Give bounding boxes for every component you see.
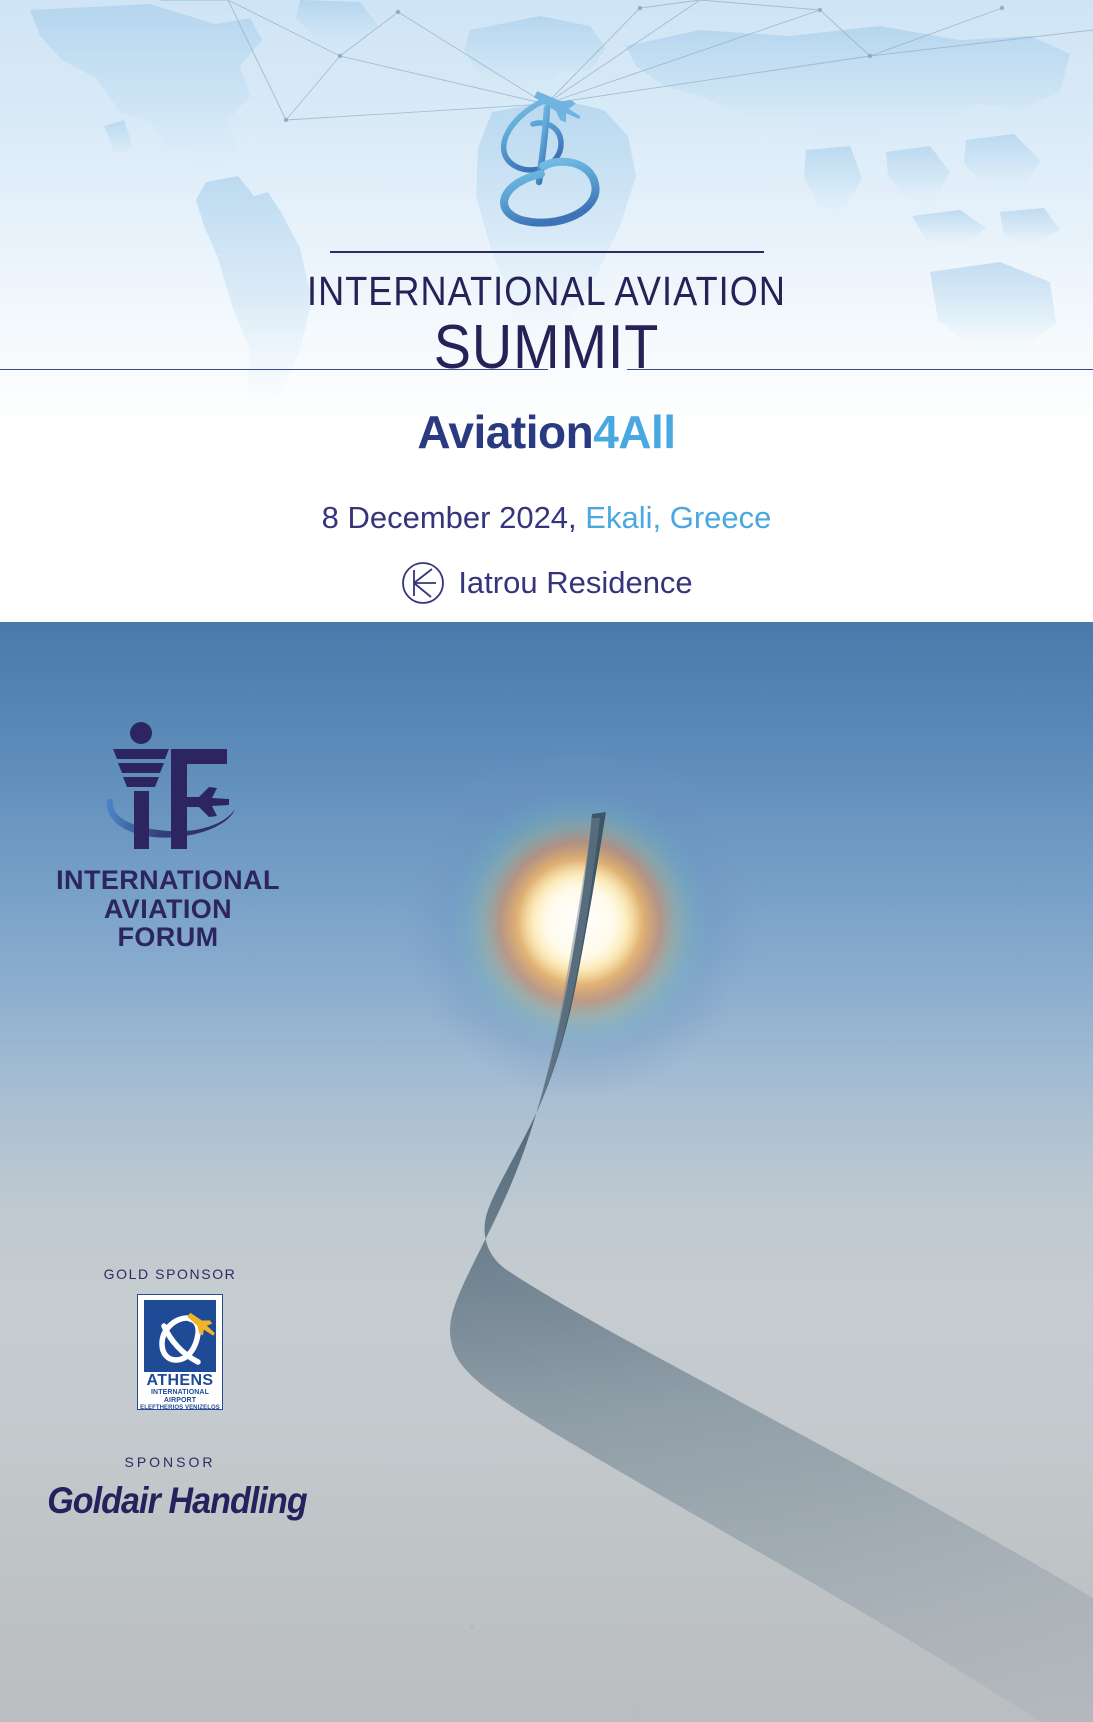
tagline-dark-part: Aviation bbox=[417, 406, 593, 458]
athens-airport-alpha-plane-icon bbox=[144, 1300, 216, 1372]
athens-airport-sponsor-logo: ATHENS INTERNATIONAL AIRPORT ELEFTHERIOS… bbox=[137, 1294, 223, 1410]
event-date: 8 December 2024, bbox=[322, 500, 577, 535]
poster-header: INTERNATIONAL AVIATION SUMMIT Aviation4A… bbox=[0, 0, 1093, 622]
goldair-handling-wordmark: Goldair Handling bbox=[47, 1480, 305, 1522]
event-poster: INTERNATIONAL AVIATION SUMMIT Aviation4A… bbox=[0, 0, 1093, 1722]
title-line-summit: SUMMIT bbox=[55, 312, 1039, 383]
aviation-summit-swoosh-logo bbox=[437, 78, 657, 228]
iatrou-residence-monogram-icon bbox=[400, 560, 446, 606]
sponsor-label: SPONSOR bbox=[80, 1454, 260, 1470]
event-location: Ekali, Greece bbox=[585, 500, 771, 535]
gold-sponsor-label: GOLD SPONSOR bbox=[80, 1266, 260, 1282]
international-aviation-forum-tower-plane-icon bbox=[93, 717, 243, 862]
forum-word-line1: INTERNATIONAL bbox=[48, 866, 288, 895]
event-date-location: 8 December 2024, Ekali, Greece bbox=[0, 500, 1093, 536]
forum-word-line3: FORUM bbox=[48, 923, 288, 952]
international-aviation-forum-logo: INTERNATIONAL AVIATION FORUM bbox=[48, 717, 288, 952]
forum-wordmark: INTERNATIONAL AVIATION FORUM bbox=[48, 866, 288, 952]
tagline-light-part: 4All bbox=[593, 406, 675, 458]
venue-row: Iatrou Residence bbox=[0, 560, 1093, 606]
athens-airport-name: ATHENS bbox=[138, 1373, 222, 1389]
athens-airport-subtitle-2: ELEFTHERIOS VENIZELOS bbox=[138, 1405, 222, 1412]
hero-photo: INTERNATIONAL AVIATION FORUM GOLD SPONSO… bbox=[0, 622, 1093, 1722]
event-tagline: Aviation4All bbox=[0, 405, 1093, 459]
title-rule-bottom-left bbox=[0, 369, 548, 370]
forum-word-line2: AVIATION bbox=[48, 895, 288, 924]
title-rule-top bbox=[330, 251, 764, 253]
venue-name: Iatrou Residence bbox=[458, 565, 692, 601]
title-rule-bottom-right bbox=[627, 369, 1093, 370]
athens-airport-text: ATHENS INTERNATIONAL AIRPORT ELEFTHERIOS… bbox=[138, 1373, 222, 1412]
title-line-international: INTERNATIONAL AVIATION bbox=[66, 268, 1028, 315]
athens-airport-subtitle-1: INTERNATIONAL AIRPORT bbox=[138, 1389, 222, 1405]
